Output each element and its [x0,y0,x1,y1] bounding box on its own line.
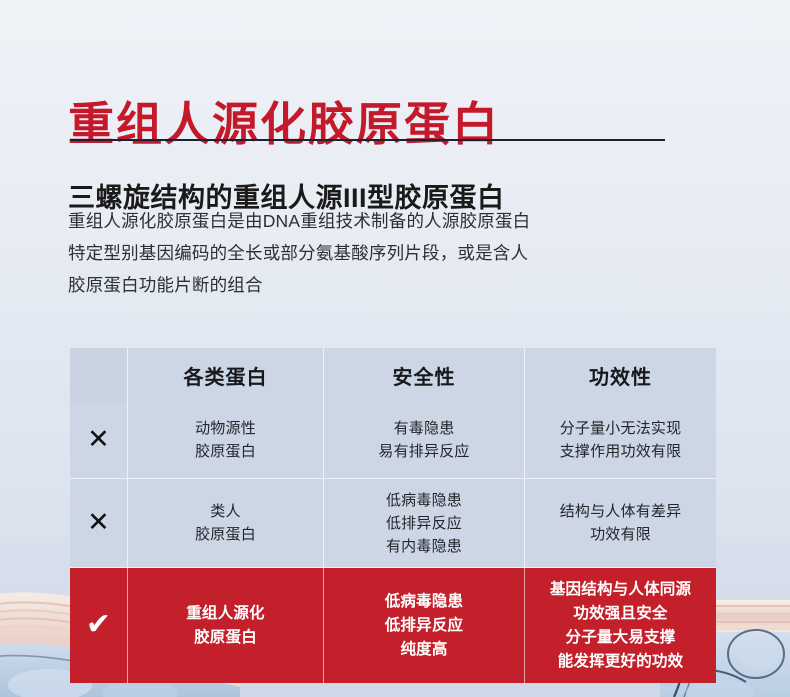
cell-efficacy: 基因结构与人体同源 功效强且安全 分子量大易支撑 能发挥更好的功效 [525,568,716,683]
cell-line: 结构与人体有差异 [525,500,716,523]
table-header: 各类蛋白 安全性 功效性 [70,348,716,402]
product-info-page: 重组人源化胶原蛋白 三螺旋结构的重组人源III型胶原蛋白 重组人源化胶原蛋白是由… [0,0,790,697]
column-header-mark [70,348,128,402]
cross-icon: ✕ [87,424,110,454]
cell-line: 纯度高 [324,638,524,662]
column-header-protein: 各类蛋白 [128,348,324,402]
intro-line-3: 胶原蛋白功能片断的组合 [68,269,708,301]
column-header-efficacy: 功效性 [525,348,716,402]
cell-line: 胶原蛋白 [128,440,323,463]
cross-icon: ✕ [87,507,110,537]
cell-efficacy: 结构与人体有差异 功效有限 [525,479,716,568]
title-divider [70,139,665,141]
cell-line: 分子量小无法实现 [525,417,716,440]
cell-line: 能发挥更好的功效 [525,650,716,674]
page-title: 重组人源化胶原蛋白 [68,99,500,150]
cell-line: 易有排异反应 [324,440,524,463]
table-row: ✕ 动物源性 胶原蛋白 有毒隐患 易有排异反应 分子量小无法实现 支撑作用功效有… [70,402,716,479]
column-header-safety: 安全性 [324,348,525,402]
cell-protein: 动物源性 胶原蛋白 [128,402,324,479]
intro-line-2: 特定型别基因编码的全长或部分氨基酸序列片段，或是含人 [68,237,708,269]
cell-line: 重组人源化 [128,602,323,626]
cell-line: 动物源性 [128,417,323,440]
cell-line: 基因结构与人体同源 [525,578,716,602]
cell-line: 低排异反应 [324,512,524,535]
cell-efficacy: 分子量小无法实现 支撑作用功效有限 [525,402,716,479]
intro-line-1: 重组人源化胶原蛋白是由DNA重组技术制备的人源胶原蛋白 [68,205,708,237]
cell-protein: 重组人源化 胶原蛋白 [128,568,324,683]
cell-safety: 有毒隐患 易有排异反应 [324,402,525,479]
table-header-row: 各类蛋白 安全性 功效性 [70,348,716,402]
cell-line: 功效强且安全 [525,602,716,626]
cell-line: 功效有限 [525,523,716,546]
protein-comparison-table: 各类蛋白 安全性 功效性 ✕ 动物源性 胶原蛋白 有毒隐患 易有排异反应 [70,348,716,683]
cell-safety: 低病毒隐患 低排异反应 纯度高 [324,568,525,683]
cell-line: 有内毒隐患 [324,535,524,558]
check-icon: ✔ [86,608,111,641]
cell-line: 支撑作用功效有限 [525,440,716,463]
intro-paragraph: 重组人源化胶原蛋白是由DNA重组技术制备的人源胶原蛋白 特定型别基因编码的全长或… [68,205,708,301]
cell-line: 低病毒隐患 [324,489,524,512]
table-row: ✕ 类人 胶原蛋白 低病毒隐患 低排异反应 有内毒隐患 结构与人体有差异 功效有… [70,479,716,568]
cell-protein: 类人 胶原蛋白 [128,479,324,568]
cell-safety: 低病毒隐患 低排异反应 有内毒隐患 [324,479,525,568]
table-body: ✕ 动物源性 胶原蛋白 有毒隐患 易有排异反应 分子量小无法实现 支撑作用功效有… [70,402,716,683]
cell-line: 胶原蛋白 [128,626,323,650]
row-mark-cell: ✕ [70,479,128,568]
cell-line: 低排异反应 [324,614,524,638]
cell-line: 分子量大易支撑 [525,626,716,650]
table-row-highlighted: ✔ 重组人源化 胶原蛋白 低病毒隐患 低排异反应 纯度高 基因结构与人体同源 功… [70,568,716,683]
row-mark-cell: ✔ [70,568,128,683]
cell-line: 类人 [128,500,323,523]
cell-line: 低病毒隐患 [324,590,524,614]
cell-line: 有毒隐患 [324,417,524,440]
cell-line: 胶原蛋白 [128,523,323,546]
row-mark-cell: ✕ [70,402,128,479]
